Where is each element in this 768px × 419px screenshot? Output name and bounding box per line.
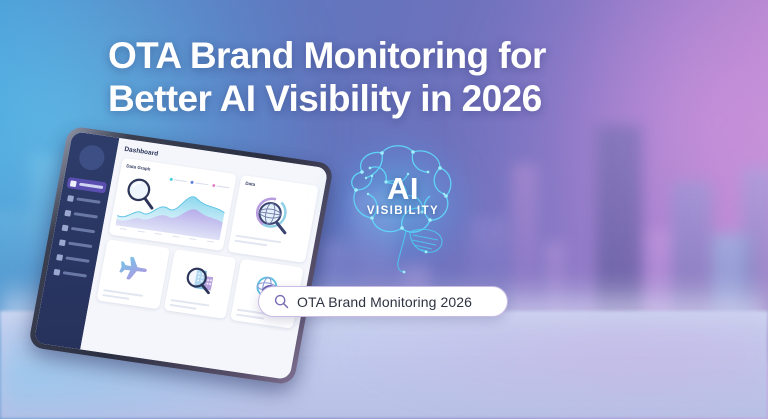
search-input[interactable]: OTA Brand Monitoring 2026 <box>297 294 472 310</box>
tablet-screen: Dashboard Data Graph <box>34 131 329 380</box>
sidebar-item-settings[interactable] <box>50 265 91 281</box>
badge-subtitle: VISIBILITY <box>318 205 488 217</box>
airplane-icon <box>104 245 164 294</box>
banner-stage: OTA Brand Monitoring for Better AI Visib… <box>0 0 768 419</box>
sidebar-item-users[interactable] <box>64 192 105 208</box>
card-data[interactable]: Data <box>228 175 319 263</box>
ai-visibility-badge: AI VISIBILITY <box>318 128 488 283</box>
globe-icon <box>59 239 66 246</box>
skeleton-line <box>235 240 268 247</box>
title-line-1: OTA Brand Monitoring for <box>108 35 546 76</box>
tablet-device: Dashboard Data Graph <box>28 126 334 386</box>
sidebar-item-alerts[interactable] <box>61 206 102 222</box>
gear-icon <box>53 268 60 275</box>
sidebar-item-analytics[interactable] <box>58 221 99 237</box>
ground-glow-right <box>348 311 768 419</box>
users-icon <box>67 195 74 202</box>
page-title: OTA Brand Monitoring for Better AI Visib… <box>108 34 688 120</box>
sidebar-item-home[interactable] <box>66 177 107 193</box>
sidebar-item-global[interactable] <box>55 236 96 252</box>
card-data-graph[interactable]: Data Graph <box>109 158 237 251</box>
clock-icon <box>56 254 63 261</box>
skeleton-line <box>102 294 130 300</box>
magnifier-icon <box>122 175 162 213</box>
search-icon <box>274 294 289 309</box>
card-hotels[interactable] <box>163 249 236 319</box>
avatar <box>77 144 106 172</box>
skeleton-line <box>169 304 197 310</box>
badge-label: AI VISIBILITY <box>318 174 488 217</box>
card-flights[interactable] <box>96 239 169 309</box>
bell-icon <box>64 209 71 216</box>
skeleton-line <box>236 313 264 319</box>
home-icon <box>70 180 77 187</box>
chart-icon <box>62 224 69 231</box>
globe-magnifier-icon <box>236 189 311 242</box>
dashboard-main: Dashboard Data Graph <box>80 138 328 380</box>
sidebar-item-history[interactable] <box>53 251 94 267</box>
search-bar[interactable]: OTA Brand Monitoring 2026 <box>258 286 508 317</box>
buildings-magnifier-icon <box>171 255 231 304</box>
title-line-2: Better AI Visibility in 2026 <box>108 77 688 120</box>
badge-title: AI <box>318 174 488 204</box>
tablet-frame: Dashboard Data Graph <box>28 126 334 386</box>
